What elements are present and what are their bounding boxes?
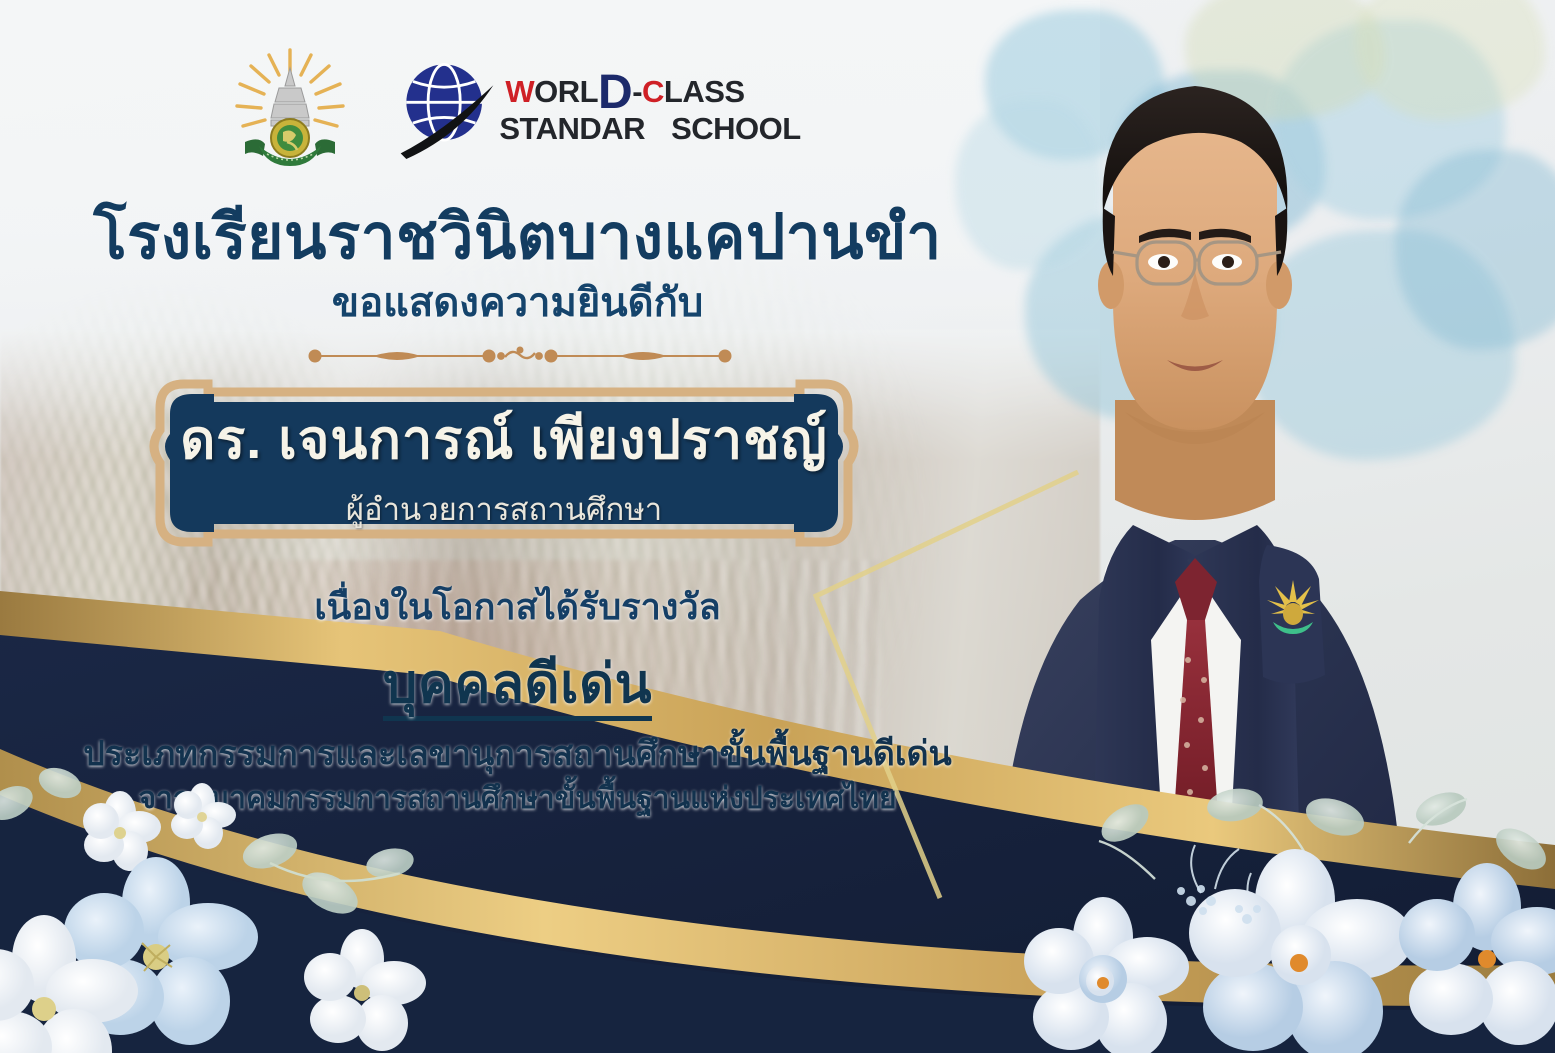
white-blue-floral-cluster-left — [0, 743, 440, 1053]
honoree-plaque: ดร. เจนการณ์ เพียงปราชญ์ ผู้อำนวยการสถาน… — [148, 378, 860, 548]
occasion-line: เนื่องในโอกาสได้รับรางวัล — [0, 578, 1035, 635]
congratulation-poster: WORLD-CLASS STANDARSCHOOL โรงเรียนราชวิน… — [0, 0, 1555, 1053]
award-title: บุคคลดีเด่น — [0, 640, 1035, 726]
honoree-role: ผู้อำนวยการสถานศึกษา — [346, 484, 662, 534]
white-blue-floral-cluster-right — [1005, 783, 1555, 1053]
congratulation-line: ขอแสดงความยินดีกับ — [0, 270, 1035, 334]
world-class-standard-school-logo: WORLD-CLASS STANDARSCHOOL — [395, 55, 800, 159]
header-logos: WORLD-CLASS STANDARSCHOOL — [0, 46, 1030, 168]
wcss-school: SCHOOL — [671, 111, 801, 146]
royal-school-crest — [229, 46, 351, 168]
wcss-w: W — [505, 74, 534, 109]
wcss-dash: - — [632, 74, 642, 109]
wcss-c: C — [642, 74, 664, 109]
honoree-name: ดร. เจนการณ์ เพียงปราชญ์ — [180, 396, 828, 482]
wcss-orl: ORL — [534, 74, 598, 109]
globe-icon — [395, 55, 499, 159]
wcss-standar: STANDAR — [499, 111, 645, 146]
ornamental-divider — [305, 345, 735, 367]
award-title-text: บุคคลดีเด่น — [383, 654, 652, 721]
wcss-lass: LASS — [664, 74, 745, 109]
